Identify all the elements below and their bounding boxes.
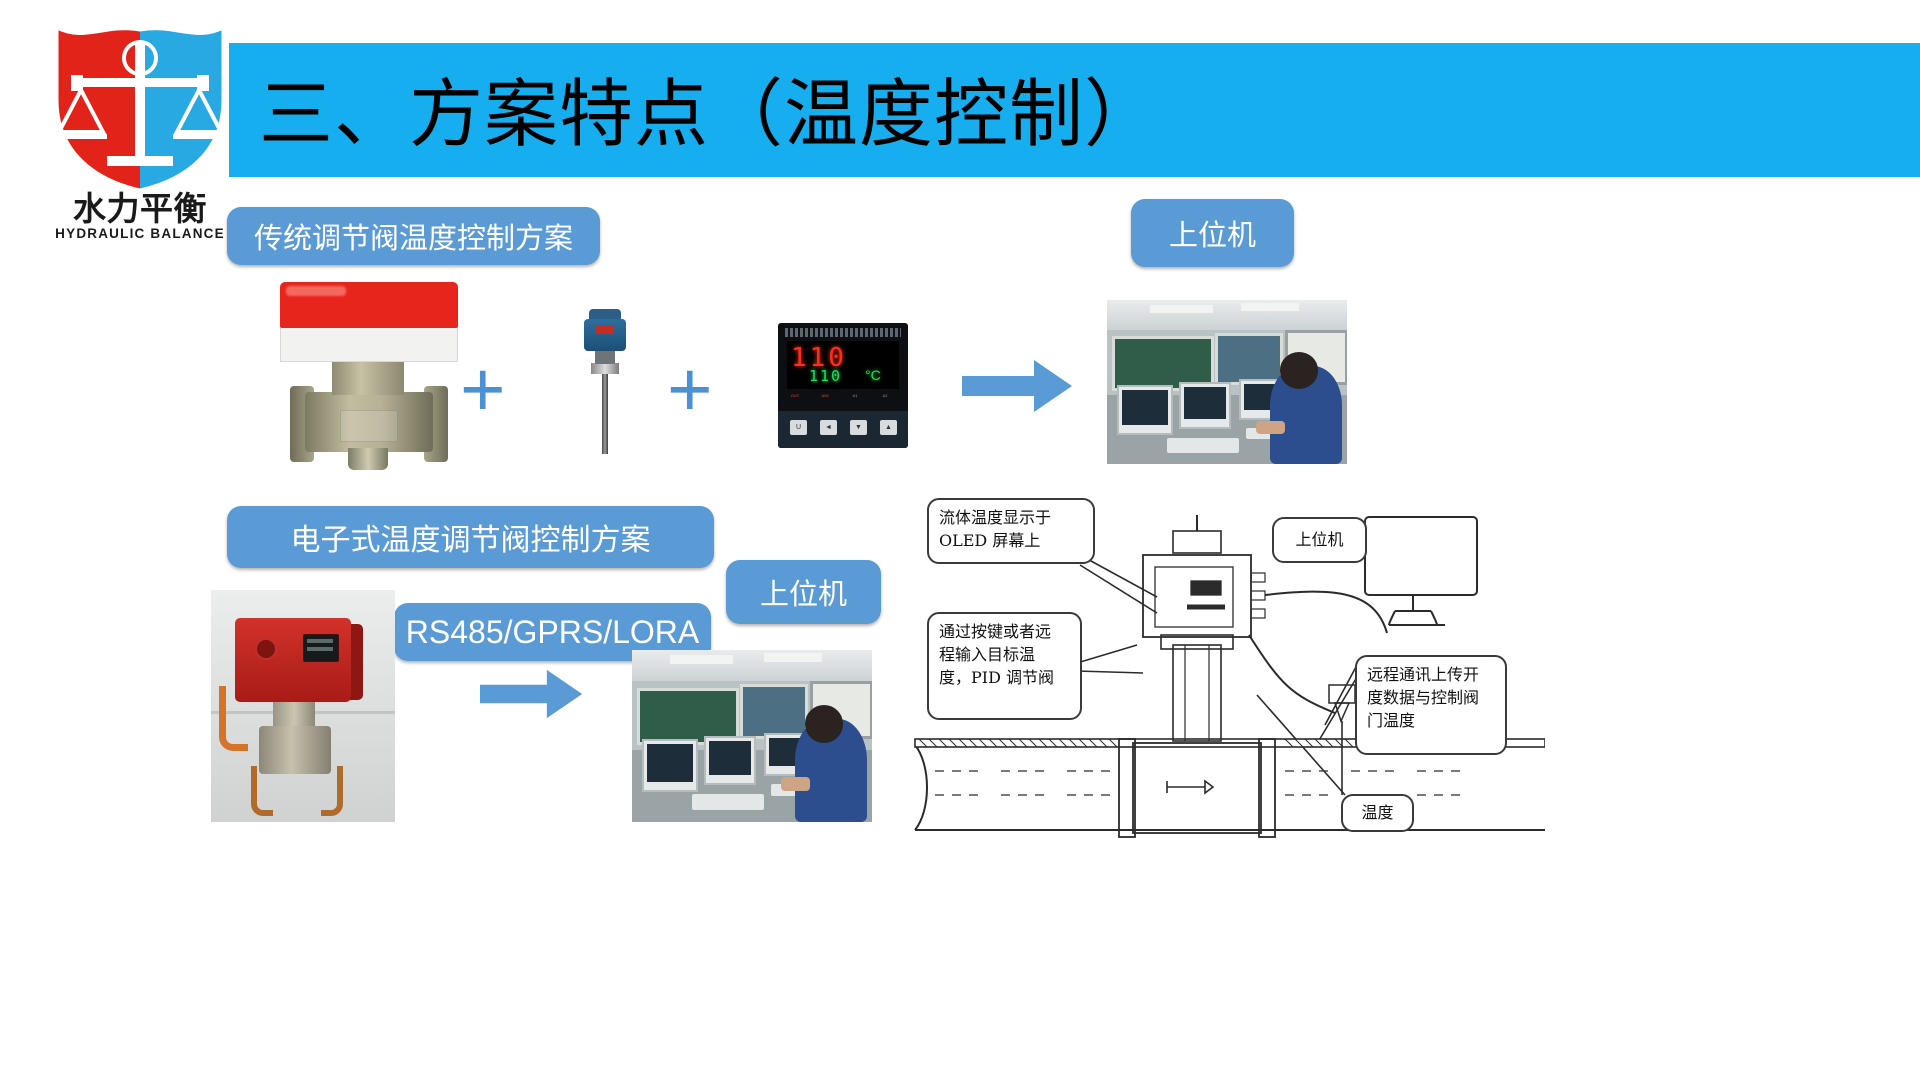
page-title: 三、方案特点（温度控制） [259,54,1159,161]
controller-button-shift[interactable]: ◄ [820,420,837,435]
led-a2: A2 [878,393,892,405]
callout-remote-line1: 远程通讯上传开 [1367,663,1495,686]
controller-button-down[interactable]: ▼ [850,420,867,435]
logo-name-en: HYDRAULIC BALANCE [45,226,235,242]
controller-button-row: U ◄ ▼ ▲ [778,411,908,448]
temperature-transmitter-photo [565,305,645,455]
flow-arrow-2 [480,668,584,720]
callout-temperature: 温度 [1341,794,1414,832]
callout-remote-comm: 远程通讯上传开 度数据与控制阀 门温度 [1355,655,1507,755]
controller-display-sub: 110 [809,367,842,385]
led-a1: A1 [848,393,862,405]
callout-remote-line2: 度数据与控制阀 [1367,686,1495,709]
logo-name-cn: 水力平衡 [45,192,235,226]
callout-oled-line2: OLED 屏幕上 [939,529,1083,552]
callout-oled-display: 流体温度显示于 OLED 屏幕上 [927,498,1095,564]
callout-keys-line2: 程输入目标温 [939,643,1070,666]
electronic-temperature-valve-photo [211,590,395,822]
control-room-photo-2 [632,650,872,822]
controller-button-set[interactable]: U [790,420,807,435]
pid-controller-photo: 110 110 °C OUT A/M A1 A2 U ◄ ▼ ▲ [778,323,908,448]
oled-screen-icon [303,634,339,662]
led-am: A/M [818,393,832,405]
plus-sign-1: + [460,350,506,428]
label-host-computer-bottom: 上位机 [726,560,881,624]
callout-host-computer: 上位机 [1272,517,1367,563]
callout-key-input: 通过按键或者远 程输入目标温 度，PID 调节阀 [927,612,1082,720]
callout-oled-line1: 流体温度显示于 [939,506,1083,529]
label-host-computer-top: 上位机 [1131,199,1294,267]
controller-display-unit: °C [865,367,881,383]
led-out: OUT [788,393,802,405]
callout-keys-line3: 度，PID 调节阀 [939,666,1070,689]
callout-keys-line1: 通过按键或者远 [939,620,1070,643]
electric-ball-valve-photo [272,282,467,472]
controller-led-row: OUT A/M A1 A2 [788,393,900,407]
flow-arrow-1 [962,358,1074,414]
slide-title-bar: 三、方案特点（温度控制） [229,43,1920,177]
label-electronic-scheme: 电子式温度调节阀控制方案 [227,506,714,568]
shield-icon [45,20,235,192]
logo-wordmark: 水力平衡 HYDRAULIC BALANCE [45,192,235,242]
company-logo: 水力平衡 HYDRAULIC BALANCE [45,20,235,250]
callout-remote-line3: 门温度 [1367,709,1495,732]
plus-sign-2: + [667,350,713,428]
control-room-photo-1 [1107,300,1347,464]
controller-button-up[interactable]: ▲ [880,420,897,435]
label-traditional-scheme: 传统调节阀温度控制方案 [227,207,600,265]
